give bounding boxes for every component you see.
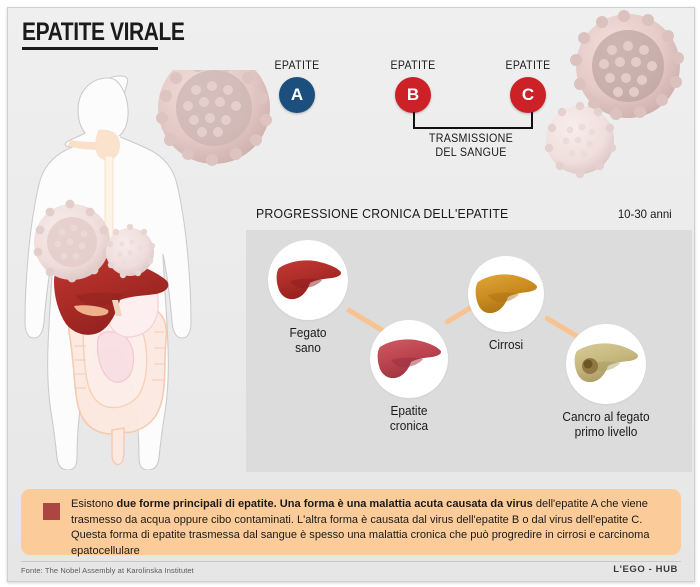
- healthy-liver-icon: [268, 240, 348, 320]
- chronic-hepatitis-liver-icon: [370, 320, 448, 398]
- liver-cancer-icon: [566, 324, 646, 404]
- blood-transmission-bracket: [413, 112, 533, 129]
- infographic-root: EPATITE VIRALE EPATITE A EPATITE B EPATI…: [0, 0, 700, 587]
- hepatitis-c-circle: C: [510, 77, 546, 113]
- cirrhosis-circle: [468, 256, 544, 332]
- hepatitis-a-badge[interactable]: EPATITE A: [264, 60, 330, 113]
- cirrhosis-liver-icon: [468, 256, 544, 332]
- cirrhosis-label: Cirrosi: [459, 338, 554, 353]
- caption-bold2: Una forma è una malattia acuta causata d…: [277, 498, 533, 510]
- caption-marker-icon: [43, 503, 60, 520]
- progression-timeframe: 10-30 anni: [618, 207, 672, 221]
- title-underline: [22, 47, 158, 50]
- hepatitis-b-label: EPATITE: [383, 60, 444, 72]
- caption-bold1: due forme principali di epatite.: [116, 498, 276, 510]
- blood-transmission-line1: TRASMISSIONE: [408, 132, 534, 146]
- healthy-liver-circle: [268, 240, 348, 320]
- caption-text: Esistono due forme principali di epatite…: [71, 497, 653, 559]
- liver-cancer-circle: [566, 324, 646, 404]
- progression-node-chronic-hepatitis[interactable]: Epatite cronica: [370, 320, 448, 398]
- page-title: EPATITE VIRALE: [22, 18, 185, 47]
- infographic-canvas: EPATITE VIRALE EPATITE A EPATITE B EPATI…: [7, 7, 695, 582]
- progression-node-liver-cancer[interactable]: Cancro al fegato primo livello: [566, 324, 646, 404]
- human-anatomy-illustration: [16, 70, 276, 470]
- hepatitis-a-circle: A: [279, 77, 315, 113]
- footer-brand: L'EGO - HUB: [613, 564, 678, 575]
- hepatitis-b-circle: B: [395, 77, 431, 113]
- progression-title: PROGRESSIONE CRONICA DELL'EPATITE: [256, 206, 508, 221]
- footer-divider: [21, 561, 681, 562]
- progression-node-healthy-liver[interactable]: Fegato sano: [268, 240, 348, 320]
- virus-particle-topright: [570, 10, 684, 120]
- healthy-liver-label: Fegato sano: [262, 326, 353, 356]
- chronic-hepatitis-label: Epatite cronica: [362, 404, 455, 434]
- virus-particle-bottomright: [545, 102, 616, 178]
- caption-part1: Esistono: [71, 498, 116, 510]
- hepatitis-c-label: EPATITE: [498, 60, 559, 72]
- progression-node-cirrhosis[interactable]: Cirrosi: [468, 256, 544, 332]
- footer-source: Fonte: The Nobel Assembly at Karolinska …: [21, 566, 194, 575]
- liver-cancer-label: Cancro al fegato primo livello: [547, 410, 665, 440]
- hepatitis-c-badge[interactable]: EPATITE C: [495, 60, 561, 113]
- blood-transmission-label: TRASMISSIONE DEL SANGUE: [408, 132, 534, 160]
- caption-box: Esistono due forme principali di epatite…: [21, 489, 681, 555]
- virus-particle-large: [156, 70, 272, 166]
- hepatitis-b-badge[interactable]: EPATITE B: [380, 60, 446, 113]
- chronic-hepatitis-circle: [370, 320, 448, 398]
- hepatitis-a-label: EPATITE: [267, 60, 328, 72]
- blood-transmission-line2: DEL SANGUE: [408, 146, 534, 160]
